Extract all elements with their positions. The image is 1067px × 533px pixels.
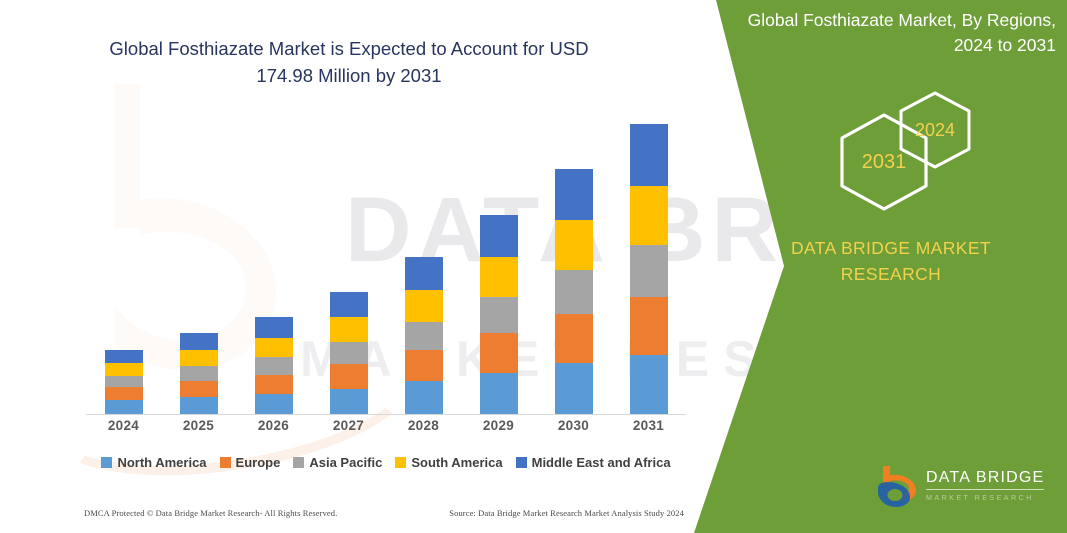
panel-brand-name: DATA BRIDGE MARKET RESEARCH: [731, 235, 1051, 288]
green-panel-content: Global Fosthiazate Market, By Regions, 2…: [716, 0, 1067, 533]
hexagon-year-2024-label: 2024: [915, 120, 955, 141]
x-axis-label: 2028: [389, 418, 459, 433]
bar-segment: [555, 270, 593, 315]
bar-segment: [480, 297, 518, 333]
hexagon-year-2024: 2024: [898, 90, 972, 170]
x-axis-label: 2030: [539, 418, 609, 433]
hexagon-year-2031-label: 2031: [862, 151, 907, 174]
legend-item: Asia Pacific: [293, 455, 382, 470]
bar-segment: [105, 363, 143, 376]
x-axis-label: 2027: [314, 418, 384, 433]
bar-segment: [180, 381, 218, 397]
legend-item: North America: [101, 455, 206, 470]
bar-segment: [105, 387, 143, 400]
bar-column: [464, 110, 534, 414]
bar-segment: [330, 317, 368, 341]
logo-main-text: DATA BRIDGE: [926, 470, 1044, 490]
bar-segment: [630, 186, 668, 245]
bar-segment: [180, 350, 218, 366]
chart-title: Global Fosthiazate Market is Expected to…: [84, 36, 614, 90]
bar-column: [389, 110, 459, 414]
bar-segment: [555, 220, 593, 270]
bar-segment: [630, 355, 668, 414]
chart-bars: [86, 110, 686, 414]
x-axis-label: 2029: [464, 418, 534, 433]
bar-segment: [480, 257, 518, 297]
bar-segment: [105, 350, 143, 363]
bar-column: [539, 110, 609, 414]
bar-segment: [555, 363, 593, 414]
bar-segment: [105, 376, 143, 388]
legend-item: South America: [395, 455, 502, 470]
legend-item: Middle East and Africa: [516, 455, 671, 470]
bar-segment: [180, 333, 218, 350]
legend-label: North America: [117, 455, 206, 470]
bar-segment: [630, 297, 668, 354]
bar-segment: [405, 322, 443, 351]
chart-legend: North AmericaEuropeAsia PacificSouth Ame…: [86, 455, 686, 470]
bar-column: [614, 110, 684, 414]
chart-baseline: [86, 414, 686, 415]
bar-segment: [555, 169, 593, 220]
bar-segment: [405, 257, 443, 290]
legend-swatch-icon: [101, 457, 112, 468]
stacked-bar: [405, 257, 443, 414]
bar-segment: [480, 373, 518, 414]
legend-label: Middle East and Africa: [532, 455, 671, 470]
bar-segment: [630, 124, 668, 186]
data-bridge-logo-words: DATA BRIDGE MARKET RESEARCH: [926, 470, 1044, 502]
footer: DMCA Protected © Data Bridge Market Rese…: [84, 508, 684, 518]
stacked-bar: [555, 169, 593, 414]
bar-segment: [330, 389, 368, 414]
legend-swatch-icon: [220, 457, 231, 468]
bar-segment: [105, 400, 143, 414]
stacked-bar-chart: [86, 110, 686, 415]
panel-title: Global Fosthiazate Market, By Regions, 2…: [736, 8, 1056, 59]
legend-swatch-icon: [516, 457, 527, 468]
bar-column: [89, 110, 159, 414]
bar-segment: [255, 394, 293, 414]
x-axis-label: 2024: [89, 418, 159, 433]
infographic-canvas: DATA BRIDGE MARKET RESEARCH Global Fosth…: [0, 0, 1067, 533]
x-axis-label: 2025: [164, 418, 234, 433]
panel-brand-line2: RESEARCH: [731, 261, 1051, 287]
x-axis-label: 2026: [239, 418, 309, 433]
bar-column: [314, 110, 384, 414]
bar-column: [239, 110, 309, 414]
chart-x-axis-labels: 20242025202620272028202920302031: [86, 418, 686, 433]
bar-segment: [180, 366, 218, 381]
bar-segment: [405, 350, 443, 381]
bar-segment: [480, 215, 518, 256]
bar-segment: [255, 317, 293, 337]
data-bridge-logo-mark-icon: [876, 464, 918, 508]
stacked-bar: [630, 124, 668, 414]
bar-segment: [330, 292, 368, 317]
hexagon-group: 2031 2024: [716, 86, 1067, 216]
stacked-bar: [255, 317, 293, 414]
legend-label: Asia Pacific: [309, 455, 382, 470]
bar-segment: [405, 290, 443, 322]
bar-segment: [630, 245, 668, 297]
logo-sub-text: MARKET RESEARCH: [926, 493, 1044, 502]
legend-item: Europe: [220, 455, 281, 470]
bar-column: [164, 110, 234, 414]
bar-segment: [255, 338, 293, 357]
bar-segment: [255, 375, 293, 394]
stacked-bar: [330, 292, 368, 414]
bar-segment: [255, 357, 293, 375]
stacked-bar: [480, 215, 518, 414]
footer-source: Source: Data Bridge Market Research Mark…: [449, 508, 684, 518]
bar-segment: [180, 397, 218, 414]
bar-segment: [330, 342, 368, 364]
panel-brand-line1: DATA BRIDGE MARKET: [731, 235, 1051, 261]
x-axis-label: 2031: [614, 418, 684, 433]
bar-segment: [555, 314, 593, 363]
stacked-bar: [180, 333, 218, 414]
bar-segment: [405, 381, 443, 414]
stacked-bar: [105, 350, 143, 414]
legend-label: Europe: [236, 455, 281, 470]
legend-swatch-icon: [395, 457, 406, 468]
footer-copyright: DMCA Protected © Data Bridge Market Rese…: [84, 508, 337, 518]
legend-label: South America: [411, 455, 502, 470]
bar-segment: [480, 333, 518, 372]
data-bridge-logo: DATA BRIDGE MARKET RESEARCH: [876, 462, 1056, 510]
legend-swatch-icon: [293, 457, 304, 468]
bar-segment: [330, 364, 368, 388]
